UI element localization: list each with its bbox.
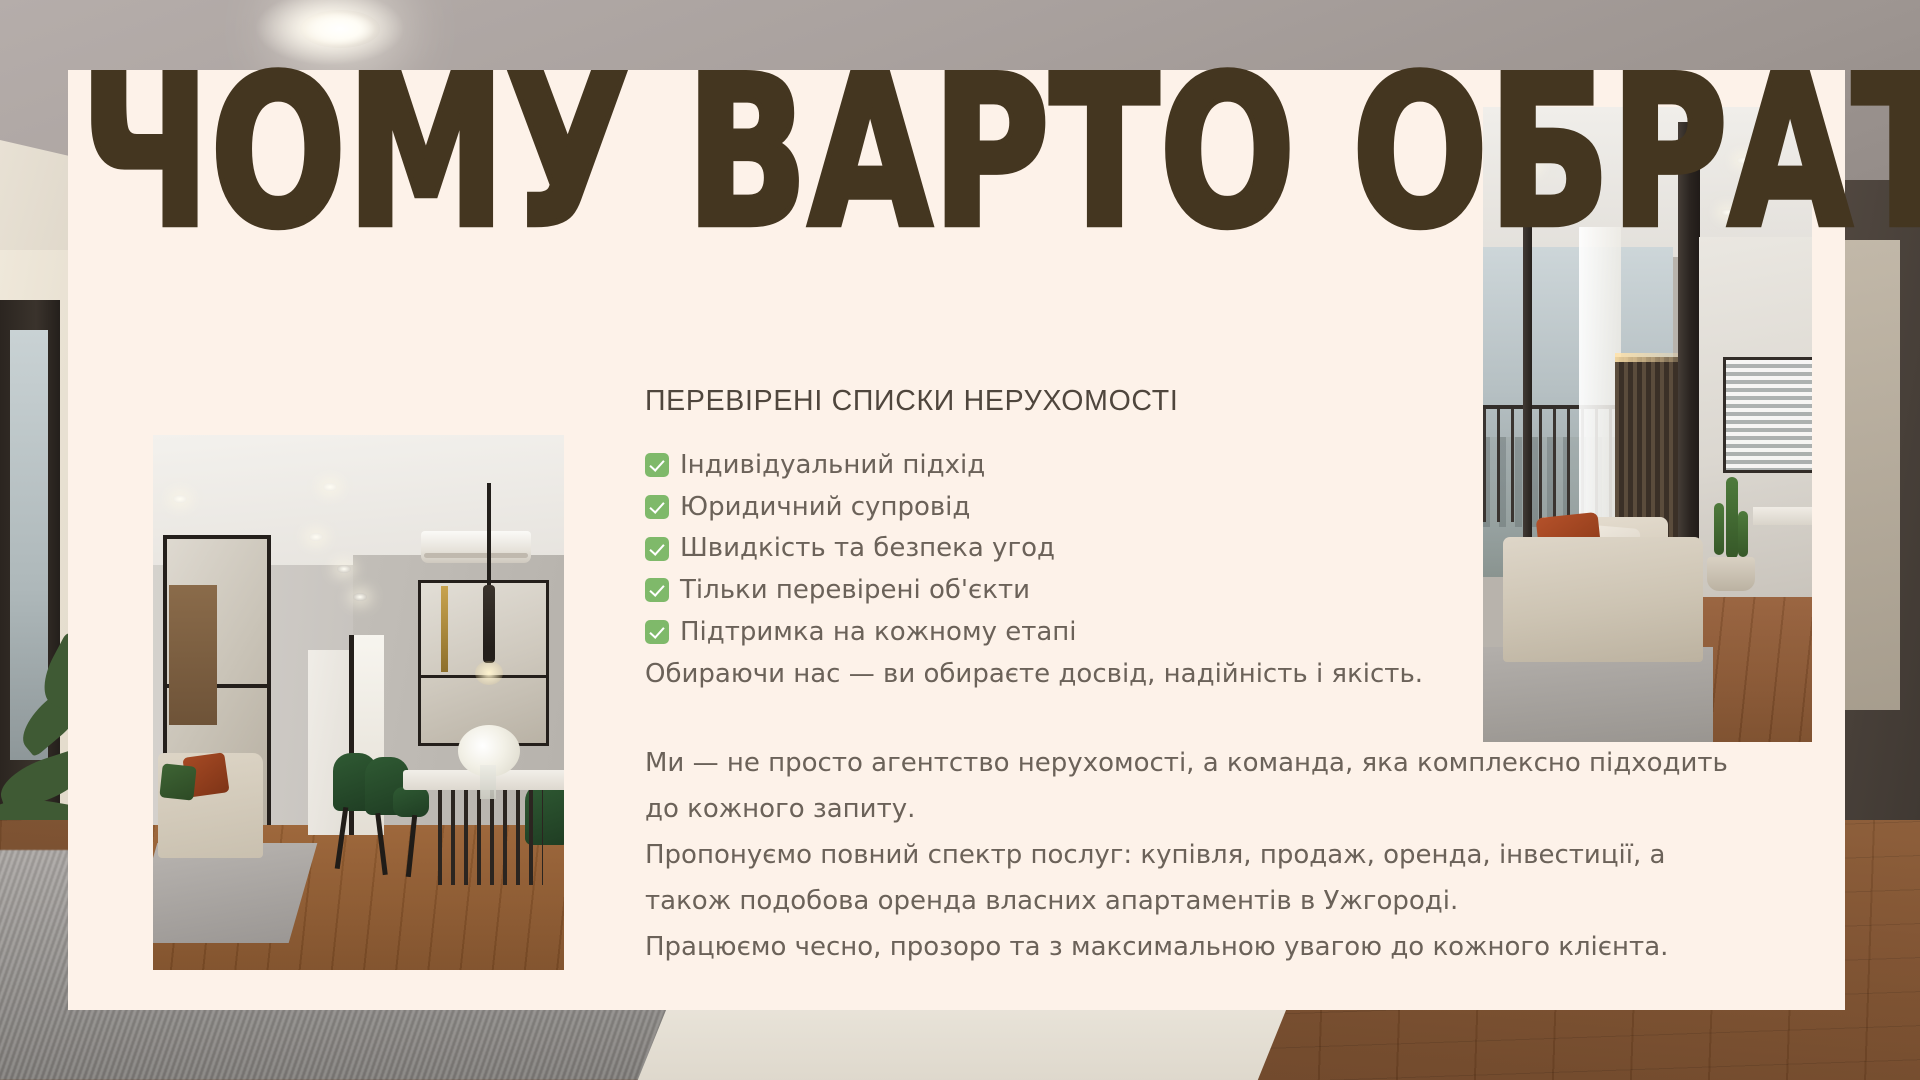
benefits-checklist: Індивідуальний підхід Юридичний супровід… — [645, 450, 1735, 647]
list-item-label: Індивідуальний підхід — [680, 450, 985, 481]
downlight-icon — [309, 533, 323, 541]
downlight-icon — [323, 483, 337, 491]
left-photo-pendant-glow — [475, 661, 503, 685]
left-photo-table-base — [438, 790, 543, 885]
section-subheading: ПЕРЕВІРЕНІ СПИСКИ НЕРУХОМОСТІ — [645, 385, 1735, 418]
left-photo-green-chair — [393, 787, 429, 817]
left-photo-green-cushion — [159, 763, 196, 800]
pendant-light-icon — [483, 585, 495, 663]
presentation-slide: ЧОМУ ВАРТО ОБРАТИ НАС — [0, 0, 1920, 1080]
body-copy: Ми — не просто агентство нерухомості, а … — [645, 740, 1735, 970]
list-item: Юридичний супровід — [645, 492, 1735, 523]
list-item-label: Підтримка на кожному етапі — [680, 617, 1077, 648]
text-column: ПЕРЕВІРЕНІ СПИСКИ НЕРУХОМОСТІ Індивідуал… — [645, 385, 1735, 970]
photo-dining-living-room — [153, 435, 564, 970]
downlight-icon — [337, 565, 351, 573]
left-photo-rug — [153, 843, 317, 943]
body-paragraph: Працюємо чесно, прозоро та з максимально… — [645, 924, 1735, 970]
right-photo-slat-lighting — [1615, 353, 1681, 362]
right-photo-table — [1753, 507, 1812, 525]
downlight-icon — [173, 495, 187, 503]
check-mark-icon — [645, 453, 669, 477]
check-mark-icon — [645, 495, 669, 519]
list-item: Підтримка на кожному етапі — [645, 617, 1735, 648]
tagline-text: Обираючи нас — ви обираєте досвід, надій… — [645, 658, 1735, 692]
left-photo-shelving — [169, 585, 217, 725]
check-mark-icon — [645, 578, 669, 602]
list-item-label: Тільки перевірені об'єкти — [680, 575, 1030, 606]
check-mark-icon — [645, 620, 669, 644]
air-conditioner-icon — [421, 531, 531, 563]
check-mark-icon — [645, 537, 669, 561]
left-photo-vase — [480, 765, 496, 799]
left-photo-art-gold-stripe — [441, 586, 448, 672]
left-photo-pendant-rod — [487, 483, 491, 588]
list-item-label: Швидкість та безпека угод — [680, 533, 1055, 564]
list-item: Швидкість та безпека угод — [645, 533, 1735, 564]
right-photo-blinds-window — [1723, 357, 1812, 473]
list-item: Тільки перевірені об'єкти — [645, 575, 1735, 606]
body-paragraph: Ми — не просто агентство нерухомості, а … — [645, 740, 1735, 832]
list-item: Індивідуальний підхід — [645, 450, 1735, 481]
page-title: ЧОМУ ВАРТО ОБРАТИ НАС — [81, 62, 1787, 245]
downlight-icon — [353, 593, 367, 601]
list-item-label: Юридичний супровід — [680, 492, 970, 523]
body-paragraph: Пропонуємо повний спектр послуг: купівля… — [645, 832, 1735, 924]
